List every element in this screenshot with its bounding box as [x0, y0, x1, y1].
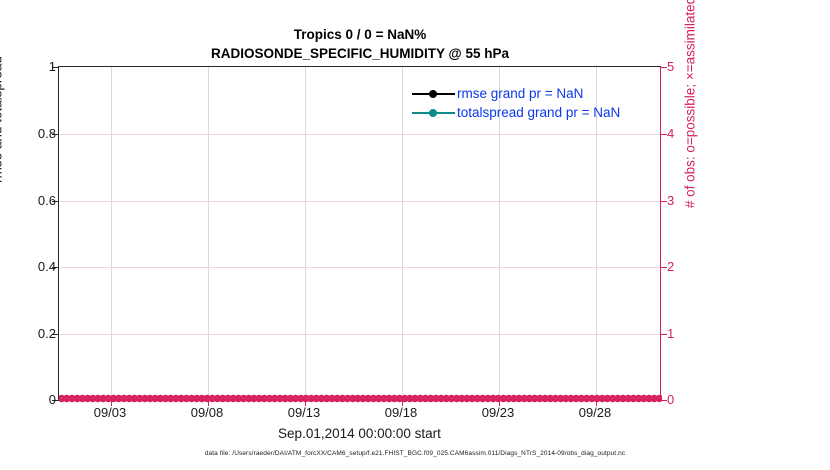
legend-item-totalspread[interactable]: totalspread grand pr = NaN — [412, 103, 620, 122]
ytick-label-right: 5 — [667, 60, 674, 73]
legend-marker-rmse — [412, 88, 455, 100]
ytick-right — [660, 267, 667, 268]
gridline-vertical — [402, 67, 403, 399]
ytick-label-right: 3 — [667, 194, 674, 207]
ytick-label-right: 1 — [667, 327, 674, 340]
ytick-right — [660, 334, 667, 335]
ytick-right — [660, 400, 667, 401]
xtick-label: 09/23 — [482, 405, 515, 420]
legend: rmse grand pr = NaN totalspread grand pr… — [412, 84, 620, 122]
legend-label-rmse: rmse grand pr = NaN — [457, 86, 583, 101]
xtick-label: 09/08 — [191, 405, 224, 420]
gridline-vertical — [111, 67, 112, 399]
chart-title-line-1: Tropics 0 / 0 = NaN% — [0, 26, 720, 44]
ytick-right — [660, 67, 667, 68]
chart-title-line-2: RADIOSONDE_SPECIFIC_HUMIDITY @ 55 hPa — [0, 44, 720, 64]
ytick-label-right: 2 — [667, 260, 674, 273]
obs-count-series — [59, 394, 662, 403]
legend-item-rmse[interactable]: rmse grand pr = NaN — [412, 84, 620, 103]
y-axis-title-right: # of obs: o=possible; ×=assimilated — [683, 0, 698, 268]
xtick-label: 09/13 — [288, 405, 321, 420]
gridline-horizontal — [59, 201, 660, 202]
legend-label-totalspread: totalspread grand pr = NaN — [457, 105, 620, 120]
ytick-label-right: 4 — [667, 127, 674, 140]
gridline-vertical — [305, 67, 306, 399]
y-axis-title-left: rmse and totalspread — [0, 0, 5, 270]
legend-marker-totalspread — [412, 107, 455, 119]
gridline-horizontal — [59, 334, 660, 335]
x-axis-title: Sep.01,2014 00:00:00 start — [58, 426, 661, 441]
gridline-horizontal — [59, 267, 660, 268]
xtick-label: 09/28 — [579, 405, 612, 420]
xtick-label: 09/18 — [385, 405, 418, 420]
ytick-label-left: 0.8 — [38, 127, 56, 140]
ytick-label-left: 0.6 — [38, 194, 56, 207]
ytick-right — [660, 134, 667, 135]
ytick-label-left: 1 — [49, 60, 56, 73]
ytick-label-left: 0 — [49, 393, 56, 406]
data-file-footer: data file: /Users/raeder/DAI/ATM_forcXX/… — [0, 450, 830, 457]
plot-area: rmse grand pr = NaN totalspread grand pr… — [58, 66, 661, 400]
gridline-vertical — [208, 67, 209, 399]
ytick-label-right: 0 — [667, 393, 674, 406]
chart-title-block: Tropics 0 / 0 = NaN% RADIOSONDE_SPECIFIC… — [0, 26, 720, 64]
ytick-right — [660, 201, 667, 202]
ytick-label-left: 0.4 — [38, 260, 56, 273]
gridline-horizontal — [59, 134, 660, 135]
ytick-label-left: 0.2 — [38, 327, 56, 340]
xtick-label: 09/03 — [94, 405, 127, 420]
